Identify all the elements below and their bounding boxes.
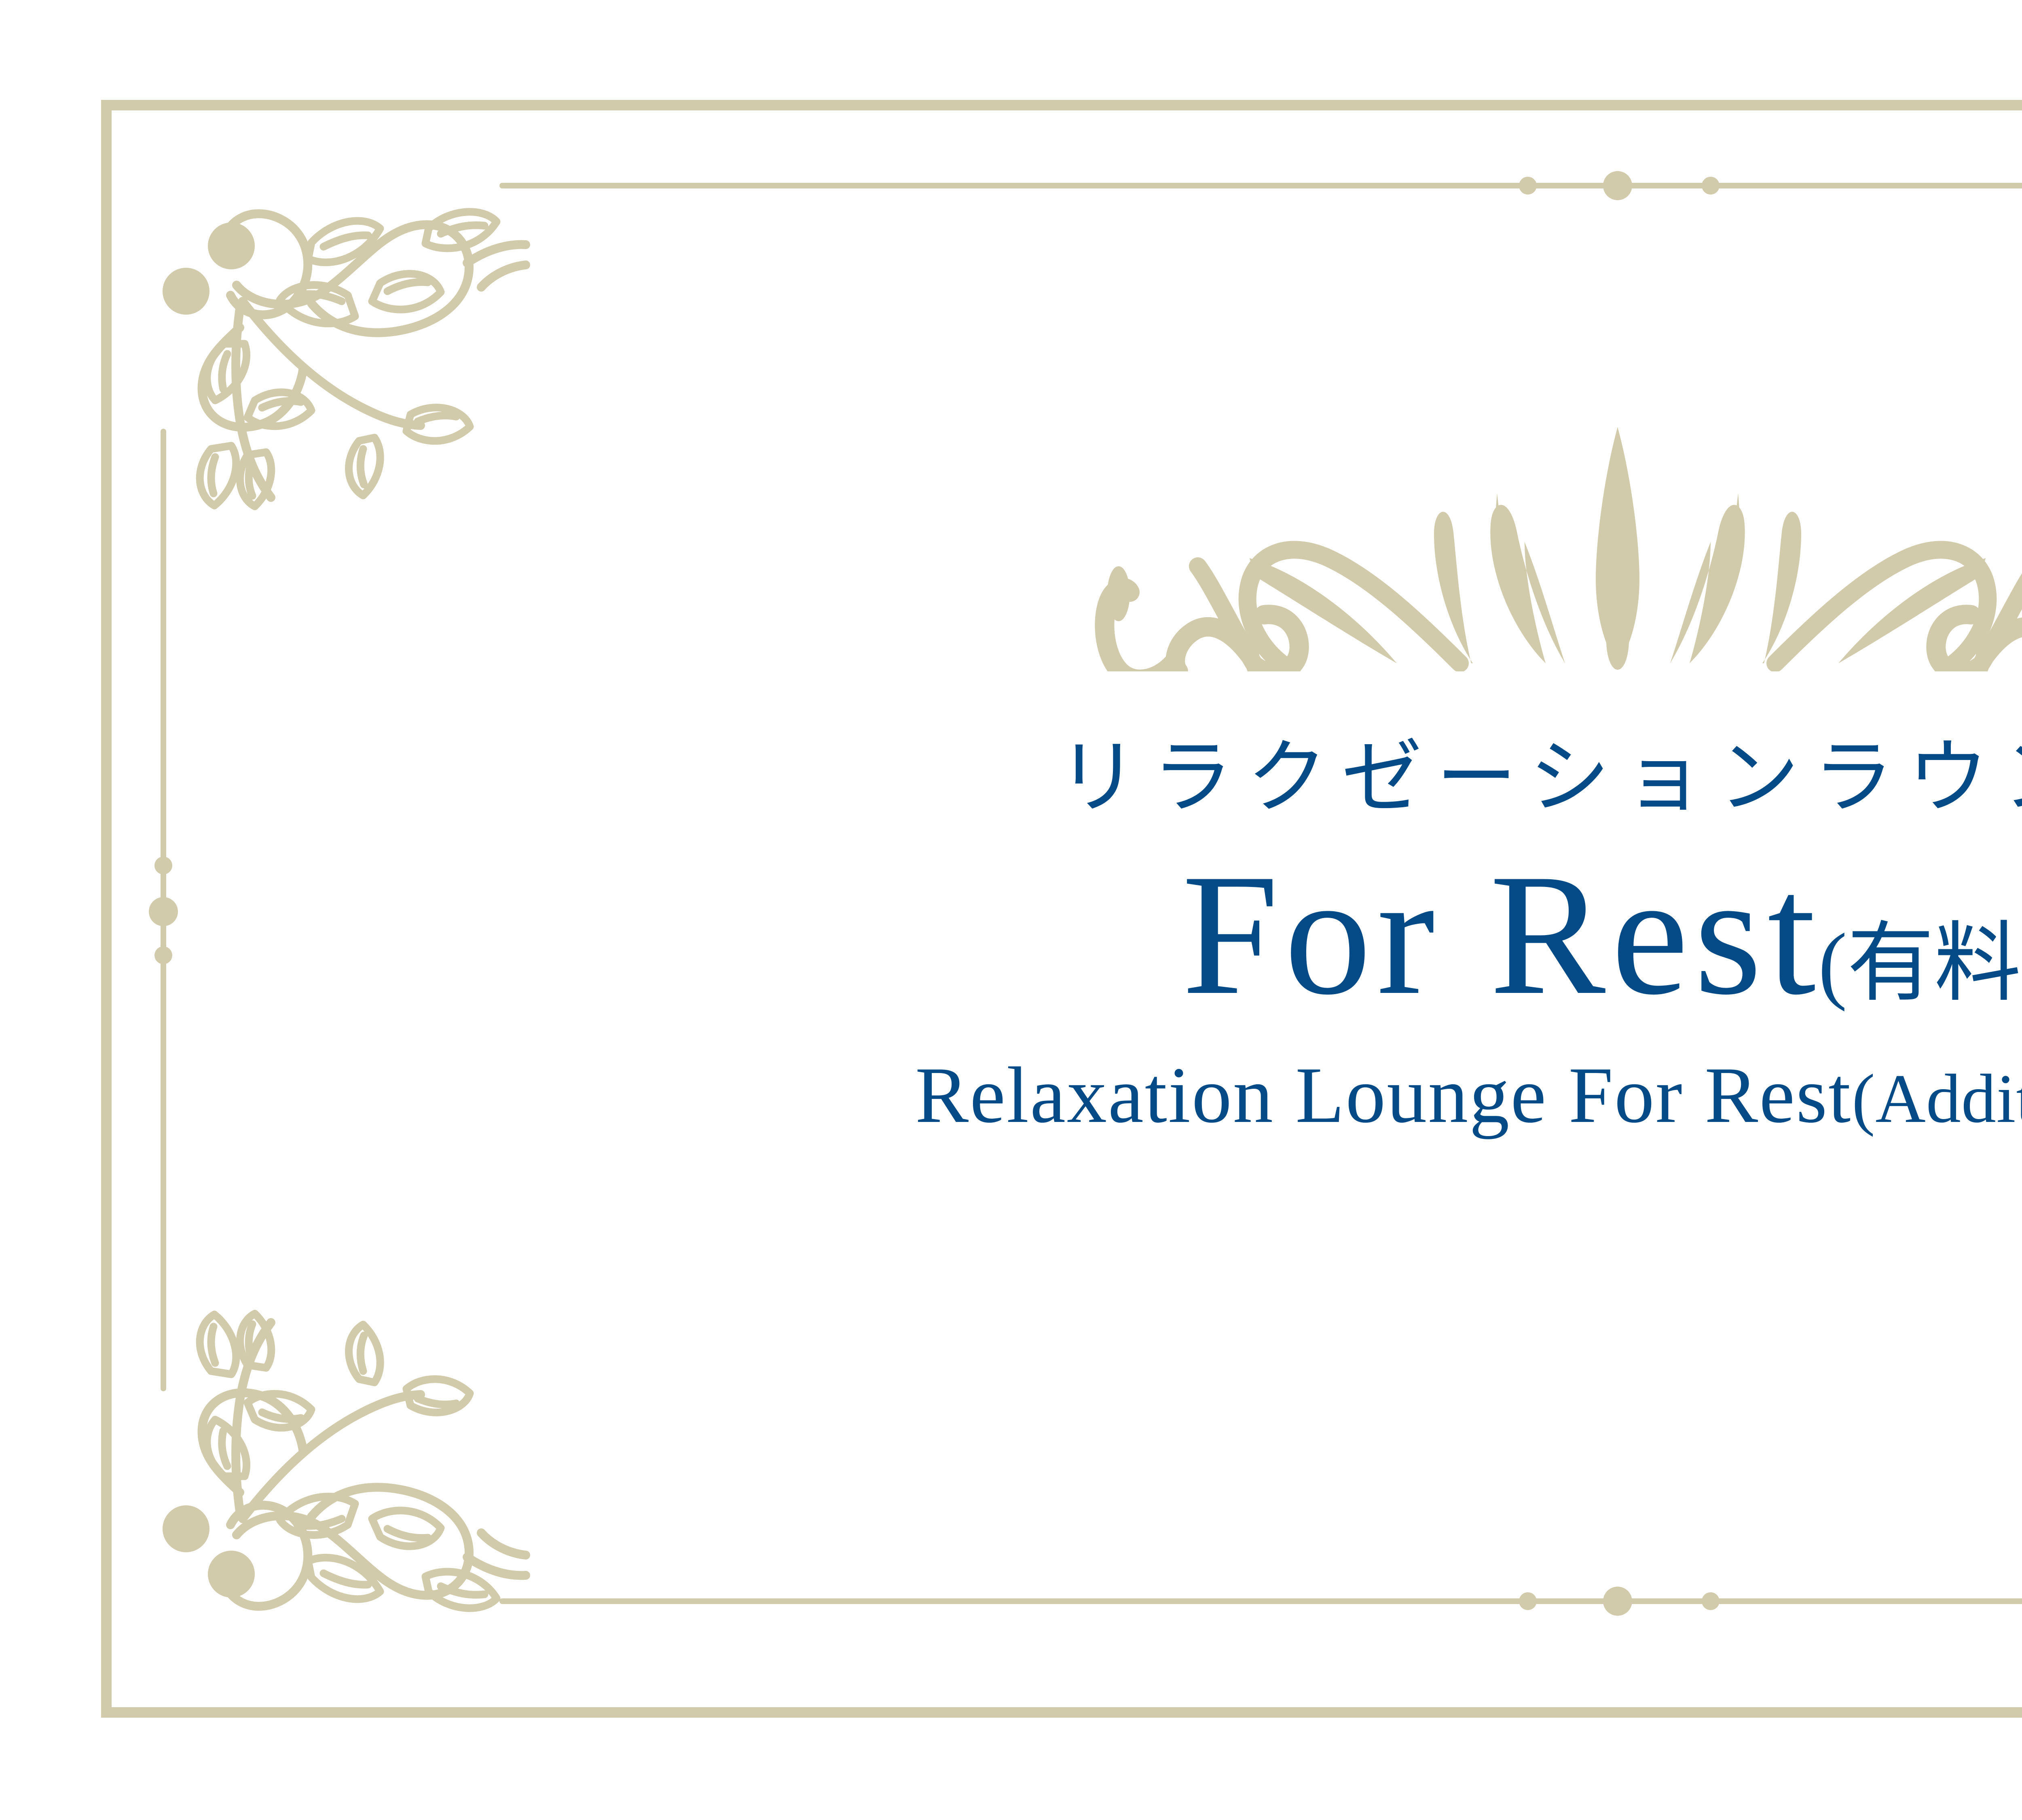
- berry-dot: [208, 1551, 255, 1598]
- rule-top: [499, 183, 2022, 188]
- center-flourish-ornament: [1007, 421, 2022, 671]
- title-line: For Rest(有料): [0, 844, 2022, 1026]
- subtitle-line: Relaxation Lounge For Rest(Additional Fe…: [0, 1049, 2022, 1141]
- rule-top-dot-right: [1702, 177, 1720, 195]
- berry-dot: [163, 268, 209, 315]
- kana-subtitle: リラクゼーションラウンジ: [0, 728, 2022, 829]
- rule-bottom-dot-center: [1603, 1587, 1632, 1616]
- subtitle-fee-note: (Additional Fee): [1852, 1060, 2022, 1137]
- rule-top-dot-left: [1519, 177, 1537, 195]
- rule-bottom-dot-left: [1519, 1592, 1537, 1610]
- berry-dot: [163, 1505, 209, 1552]
- corner-ornament-top-left: [121, 117, 526, 481]
- title-fee-note: (有料): [1818, 915, 2022, 1012]
- corner-ornament-bottom-left: [121, 1339, 526, 1703]
- text-block: リラクゼーションラウンジ For Rest(有料) Relaxation Lou…: [0, 728, 2022, 1141]
- rule-top-dot-center: [1603, 171, 1632, 200]
- page-title: For Rest: [1182, 838, 1821, 1031]
- berry-dot: [208, 222, 255, 269]
- signage-card: リラクゼーションラウンジ For Rest(有料) Relaxation Lou…: [0, 0, 2022, 1820]
- rule-bottom-dot-right: [1702, 1592, 1720, 1610]
- rule-bottom: [499, 1598, 2022, 1604]
- subtitle-english: Relaxation Lounge For Rest: [915, 1051, 1852, 1139]
